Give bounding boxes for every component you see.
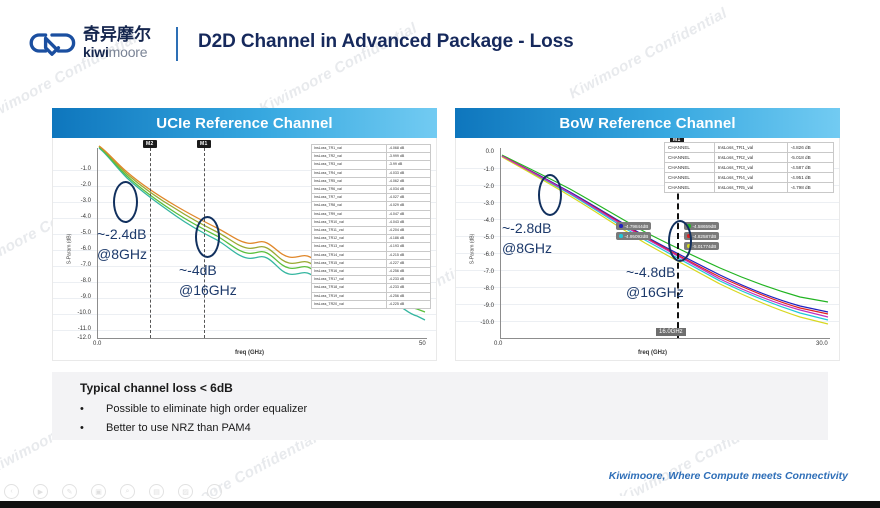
callout-bullet-text: Better to use NRZ than PAM4 <box>106 422 251 434</box>
pen-icon[interactable]: ✎ <box>62 484 77 499</box>
panel-ucie-header: UCIe Reference Channel <box>52 108 437 138</box>
chart-bow: S-Param (dB) 0.0 -1.0 -2.0 -3.0 -4.0 -5.… <box>456 138 839 360</box>
table-row: InsLoss_TR13_val-4.193 dB <box>312 243 431 251</box>
prev-icon[interactable]: ‹ <box>4 484 19 499</box>
highlight-ellipse-16ghz <box>668 220 692 262</box>
table-cell: -4.204 dB <box>386 227 430 235</box>
y-tick: -12.0 <box>65 335 91 341</box>
table-row: InsLoss_TR8_val-4.029 dB <box>312 202 431 210</box>
y-tick: -5.0 <box>65 230 91 236</box>
table-cell: InsLoss_TR11_val <box>312 227 387 235</box>
table-cell: -4.033 dB <box>386 169 430 177</box>
table-cell: InsLoss_TR13_val <box>312 243 387 251</box>
table-cell: InsLoss_TR1_val <box>714 143 787 153</box>
table-cell: -4.225 dB <box>386 300 430 308</box>
table-row: InsLoss_TR1_val-4.068 dB <box>312 145 431 153</box>
table-row: InsLoss_TR11_val-4.204 dB <box>312 227 431 235</box>
table-cell: -4.227 dB <box>386 259 430 267</box>
y-tick: -7.0 <box>468 269 494 275</box>
table-cell: -4.233 dB <box>386 284 430 292</box>
table-cell: InsLoss_TR3_val <box>714 163 787 173</box>
panel-ucie-body: S-Param (dB) -1.0 -2.0 -3.0 -4.0 -5.0 -6… <box>52 138 437 361</box>
x-axis-label: freq (GHz) <box>235 350 264 356</box>
y-tick: -9.0 <box>468 303 494 309</box>
table-cell: InsLoss_TR8_val <box>312 202 387 210</box>
y-tick: -8.0 <box>468 286 494 292</box>
table-cell: InsLoss_TR2_val <box>312 153 387 161</box>
table-row: InsLoss_TR15_val-4.227 dB <box>312 259 431 267</box>
marker-value-chip: -4.95092dB <box>616 232 651 240</box>
table-cell: CHANNEL <box>665 153 715 163</box>
x-axis <box>97 338 427 339</box>
panel-ucie-title: UCIe Reference Channel <box>156 115 332 132</box>
annotation-8ghz-line2: @8GHz <box>502 240 552 256</box>
chart-ucie: S-Param (dB) -1.0 -2.0 -3.0 -4.0 -5.0 -6… <box>53 138 436 360</box>
marker-flag-m1[interactable]: M1 <box>197 140 211 148</box>
y-tick: -3.0 <box>468 201 494 207</box>
table-row: InsLoss_TR10_val-4.043 dB <box>312 218 431 226</box>
logo-chinese-name: 奇异摩尔 <box>83 26 151 43</box>
y-tick: -7.0 <box>65 262 91 268</box>
table-row: InsLoss_TR6_val-4.034 dB <box>312 186 431 194</box>
y-tick: -2.0 <box>468 184 494 190</box>
table-row: CHANNELInsLoss_TR2_val-5.018 dB <box>665 153 834 163</box>
table-cell: -4.215 dB <box>386 251 430 259</box>
table-cell: InsLoss_TR19_val <box>312 292 387 300</box>
table-cell: InsLoss_TR4_val <box>312 169 387 177</box>
y-tick: -1.0 <box>65 166 91 172</box>
table-cell: -4.027 dB <box>386 194 430 202</box>
table-row: InsLoss_TR9_val-4.047 dB <box>312 210 431 218</box>
table-cell: -3.999 dB <box>386 153 430 161</box>
annotation-16ghz-line2: @16GHz <box>626 284 684 300</box>
table-cell: -4.233 dB <box>386 276 430 284</box>
annotation-8ghz-line1: ~-2.8dB <box>502 220 551 236</box>
slide-header: 奇异摩尔 kiwimoore D2D Channel in Advanced P… <box>0 0 880 88</box>
panel-bow-body: S-Param (dB) 0.0 -1.0 -2.0 -3.0 -4.0 -5.… <box>455 138 840 361</box>
table-cell: -4.034 dB <box>386 186 430 194</box>
x-tick: 0.0 <box>494 341 502 347</box>
table-row: CHANNELInsLoss_TR3_val-4.587 dB <box>665 163 834 173</box>
table-cell: InsLoss_TR4_val <box>714 173 787 183</box>
x-tick: 50 <box>419 341 426 347</box>
annotation-16ghz-line2: @16GHz <box>179 282 237 298</box>
callout-bullet-text: Possible to eliminate high order equaliz… <box>106 403 307 415</box>
table-row: InsLoss_TR4_val-4.033 dB <box>312 169 431 177</box>
next-icon[interactable]: › <box>207 484 222 499</box>
table-row: InsLoss_TR20_val-4.225 dB <box>312 300 431 308</box>
table-cell: InsLoss_TR5_val <box>714 183 787 193</box>
table-cell: InsLoss_TR12_val <box>312 235 387 243</box>
brand-logo: 奇异摩尔 kiwimoore <box>28 26 151 59</box>
table-row: InsLoss_TR16_val-4.256 dB <box>312 268 431 276</box>
table-cell: InsLoss_TR3_val <box>312 161 387 169</box>
table-row: CHANNELInsLoss_TR4_val-4.951 dB <box>665 173 834 183</box>
y-tick: 0.0 <box>468 149 494 155</box>
slide: Kiwimoore Confidential Kiwimoore Confide… <box>0 0 880 496</box>
table-cell: CHANNEL <box>665 163 715 173</box>
play-icon[interactable]: ▶ <box>33 484 48 499</box>
table-cell: InsLoss_TR15_val <box>312 259 387 267</box>
table-cell: -4.256 dB <box>386 292 430 300</box>
table-cell: -4.256 dB <box>386 268 430 276</box>
table-cell: -4.047 dB <box>386 210 430 218</box>
x-axis-label: freq (GHz) <box>638 350 667 356</box>
screen-icon[interactable]: ▨ <box>178 484 193 499</box>
y-tick: -11.0 <box>65 326 91 332</box>
table-row: InsLoss_TR5_val-4.062 dB <box>312 177 431 185</box>
table-row: InsLoss_TR12_val-4.186 dB <box>312 235 431 243</box>
footer-tagline: Kiwimoore, Where Compute meets Connectiv… <box>609 470 848 482</box>
panel-bow: BoW Reference Channel S-Param (dB) 0.0 -… <box>455 108 840 360</box>
y-tick: -6.0 <box>468 252 494 258</box>
logo-english-name: kiwimoore <box>83 45 151 59</box>
table-cell: InsLoss_TR5_val <box>312 177 387 185</box>
table-cell: InsLoss_TR9_val <box>312 210 387 218</box>
table-cell: -5.018 dB <box>787 153 833 163</box>
y-tick: -6.0 <box>65 246 91 252</box>
highlight-ellipse-8ghz <box>538 174 562 216</box>
panel-bow-header: BoW Reference Channel <box>455 108 840 138</box>
table-cell: -4.068 dB <box>386 145 430 153</box>
table-cell: CHANNEL <box>665 183 715 193</box>
bullet-glyph: • <box>80 422 84 434</box>
callout-heading: Typical channel loss < 6dB <box>80 381 233 395</box>
search-icon[interactable]: ⌕ <box>120 484 135 499</box>
annotation-16ghz-line1: ~-4dB <box>179 262 217 278</box>
title-divider <box>176 27 178 61</box>
table-cell: -4.826 dB <box>787 143 833 153</box>
copy-icon[interactable]: ▣ <box>91 484 106 499</box>
y-tick: -4.0 <box>468 218 494 224</box>
table-cell: InsLoss_TR2_val <box>714 153 787 163</box>
marker-flag-m2[interactable]: M2 <box>143 140 157 148</box>
x-tick: 30.0 <box>816 341 828 347</box>
y-tick: -8.0 <box>65 278 91 284</box>
table-row: InsLoss_TR18_val-4.233 dB <box>312 284 431 292</box>
table-cell: CHANNEL <box>665 173 715 183</box>
page-title: D2D Channel in Advanced Package - Loss <box>198 31 574 53</box>
y-tick: -4.0 <box>65 214 91 220</box>
bullet-glyph: • <box>80 403 84 415</box>
summary-callout: Typical channel loss < 6dB • Possible to… <box>52 372 828 440</box>
table-cell: InsLoss_TR14_val <box>312 251 387 259</box>
y-tick: -3.0 <box>65 198 91 204</box>
annotation-16ghz-line1: ~-4.8dB <box>626 264 675 280</box>
table-cell: -3.99 dB <box>386 161 430 169</box>
table-cell: InsLoss_TR10_val <box>312 218 387 226</box>
table-row: InsLoss_TR17_val-4.233 dB <box>312 276 431 284</box>
table-cell: -4.798 dB <box>787 183 833 193</box>
y-tick: -9.0 <box>65 294 91 300</box>
table-row: CHANNELInsLoss_TR1_val-4.826 dB <box>665 143 834 153</box>
highlight-ellipse-16ghz <box>195 216 220 258</box>
table-cell: InsLoss_TR1_val <box>312 145 387 153</box>
table-row: InsLoss_TR7_val-4.027 dB <box>312 194 431 202</box>
panel-bow-title: BoW Reference Channel <box>559 115 735 132</box>
y-tick: -1.0 <box>468 167 494 173</box>
table-row: InsLoss_TR19_val-4.256 dB <box>312 292 431 300</box>
note-icon[interactable]: ▤ <box>149 484 164 499</box>
table-row: InsLoss_TR3_val-3.99 dB <box>312 161 431 169</box>
table-cell: -4.587 dB <box>787 163 833 173</box>
panel-ucie: UCIe Reference Channel S-Param (dB) -1.0… <box>52 108 437 360</box>
table-cell: InsLoss_TR6_val <box>312 186 387 194</box>
table-cell: InsLoss_TR18_val <box>312 284 387 292</box>
marker-value-chip: -4.79844dB <box>616 222 651 230</box>
bottom-black-bar <box>0 501 880 508</box>
highlight-ellipse-8ghz <box>113 181 138 223</box>
table-row: InsLoss_TR14_val-4.215 dB <box>312 251 431 259</box>
table-row: InsLoss_TR2_val-3.999 dB <box>312 153 431 161</box>
table-cell: -4.951 dB <box>787 173 833 183</box>
x-axis <box>500 338 830 339</box>
x-marker-flag-16ghz: 16.0GHz <box>656 328 686 336</box>
table-cell: InsLoss_TR17_val <box>312 276 387 284</box>
annotation-8ghz-line1: ~-2.4dB <box>97 226 146 242</box>
table-cell: CHANNEL <box>665 143 715 153</box>
table-cell: -4.043 dB <box>386 218 430 226</box>
table-cell: InsLoss_TR16_val <box>312 268 387 276</box>
table-cell: -4.029 dB <box>386 202 430 210</box>
y-tick: -10.0 <box>468 320 494 326</box>
y-tick: -10.0 <box>65 310 91 316</box>
table-row: CHANNELInsLoss_TR5_val-4.798 dB <box>665 183 834 193</box>
table-cell: -4.062 dB <box>386 177 430 185</box>
annotation-8ghz-line2: @8GHz <box>97 246 147 262</box>
y-tick: -2.0 <box>65 182 91 188</box>
y-tick: -5.0 <box>468 235 494 241</box>
table-cell: InsLoss_TR20_val <box>312 300 387 308</box>
table-cell: InsLoss_TR7_val <box>312 194 387 202</box>
kiwimoore-logo-icon <box>28 29 76 57</box>
table-cell: -4.186 dB <box>386 235 430 243</box>
ucie-data-table: InsLoss_TR1_val-4.068 dBInsLoss_TR2_val-… <box>311 144 431 309</box>
marker-line-m2 <box>150 148 151 338</box>
bow-data-table: CHANNELInsLoss_TR1_val-4.826 dBCHANNELIn… <box>664 142 834 193</box>
table-cell: -4.193 dB <box>386 243 430 251</box>
x-tick: 0.0 <box>93 341 101 347</box>
